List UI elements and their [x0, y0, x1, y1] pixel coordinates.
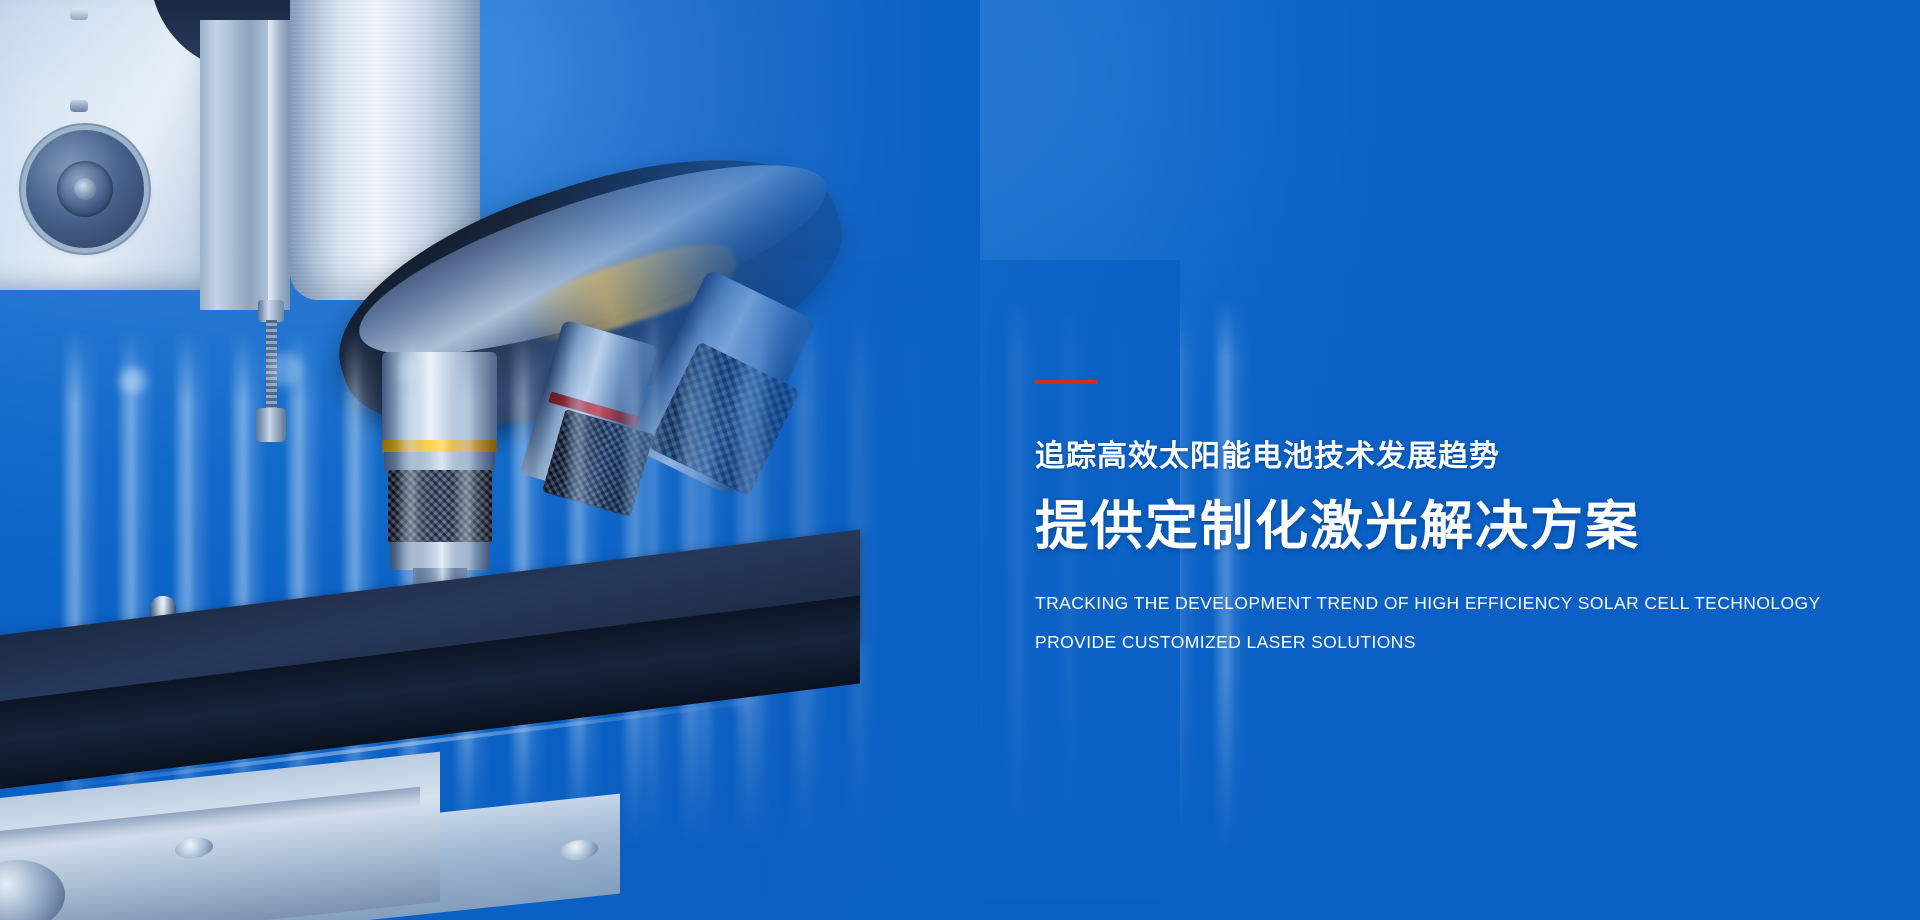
hero-subtitle-en-1: TRACKING THE DEVELOPMENT TREND OF HIGH E…: [1035, 595, 1855, 613]
hero-banner: 追踪高效太阳能电池技术发展趋势 提供定制化激光解决方案 TRACKING THE…: [0, 0, 1920, 920]
hero-subtitle-cn: 追踪高效太阳能电池技术发展趋势: [1035, 442, 1855, 472]
hero-subtitle-en-2: PROVIDE CUSTOMIZED LASER SOLUTIONS: [1035, 634, 1855, 652]
microscope-stage-group: [0, 0, 900, 920]
hero-copy: 追踪高效太阳能电池技术发展趋势 提供定制化激光解决方案 TRACKING THE…: [1035, 380, 1855, 651]
accent-rule: [1035, 380, 1097, 384]
hero-title-cn: 提供定制化激光解决方案: [1035, 500, 1855, 553]
